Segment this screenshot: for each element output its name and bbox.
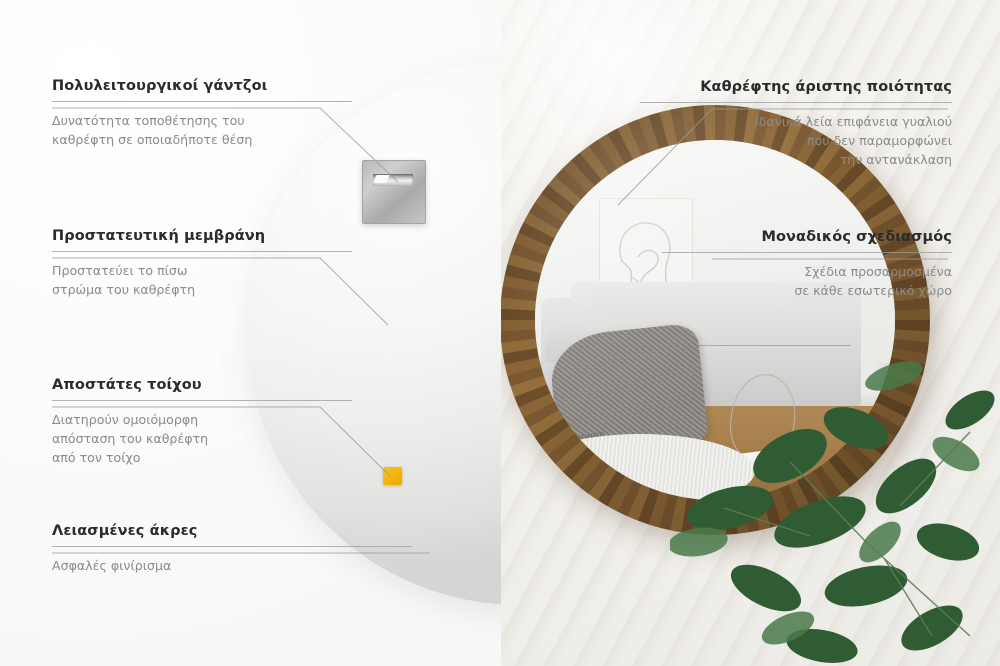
feature-title: Αποστάτες τοίχου	[52, 377, 352, 393]
feature-body-line: απόσταση του καθρέφτη	[52, 431, 208, 446]
hook-plate-marker	[362, 160, 426, 224]
infographic-stage: Πολυλειτουργικοί γάντζοι Δυνατότητα τοπο…	[0, 0, 1000, 666]
feature-title: Λειασμένες άκρες	[52, 523, 412, 539]
feature-smoothed-edges: Λειασμένες άκρες Ασφαλές φινίρισμα	[52, 523, 412, 575]
feature-protective-membrane: Προστατευτική μεμβράνη Προστατεύει το πί…	[52, 228, 352, 299]
feature-body-line: Ιδανικά λεία επιφάνεια γυαλιού	[755, 114, 952, 129]
feature-top-quality-mirror: Καθρέφτης άριστης ποιότητας Ιδανικά λεία…	[640, 79, 952, 169]
feature-body: Ιδανικά λεία επιφάνεια γυαλιού που δεν π…	[640, 112, 952, 169]
feature-body-line: από τον τοίχο	[52, 450, 140, 465]
feature-body: Δυνατότητα τοποθέτησης του καθρέφτη σε ο…	[52, 111, 352, 149]
feature-wall-spacers: Αποστάτες τοίχου Διατηρούν ομοιόμορφη απ…	[52, 377, 352, 467]
feature-rule	[52, 546, 412, 547]
feature-rule	[52, 251, 352, 252]
feature-multifunctional-hooks: Πολυλειτουργικοί γάντζοι Δυνατότητα τοπο…	[52, 78, 352, 149]
feature-title: Μοναδικός σχεδιασμός	[662, 229, 952, 245]
feature-body-line: στρώμα του καθρέφτη	[52, 282, 195, 297]
feature-body-line: την αντανάκλαση	[840, 152, 952, 167]
hook-slot-icon	[373, 174, 413, 186]
feature-body-line: Ασφαλές φινίρισμα	[52, 558, 171, 573]
feature-body-line: Διατηρούν ομοιόμορφη	[52, 412, 198, 427]
feature-title: Προστατευτική μεμβράνη	[52, 228, 352, 244]
feature-body: Προστατεύει το πίσω στρώμα του καθρέφτη	[52, 261, 352, 299]
feature-rule	[52, 400, 352, 401]
feature-body-line: που δεν παραμορφώνει	[807, 133, 952, 148]
feature-body: Ασφαλές φινίρισμα	[52, 556, 412, 575]
feature-title: Καθρέφτης άριστης ποιότητας	[640, 79, 952, 95]
wall-spacer-marker	[383, 467, 402, 485]
feature-unique-design: Μοναδικός σχεδιασμός Σχέδια προσαρμοσμέν…	[662, 229, 952, 300]
feature-rule	[52, 101, 352, 102]
feature-body-line: Σχέδια προσαρμοσμένα	[804, 264, 952, 279]
feature-body: Σχέδια προσαρμοσμένα σε κάθε εσωτερικό χ…	[662, 262, 952, 300]
feature-body: Διατηρούν ομοιόμορφη απόσταση του καθρέφ…	[52, 410, 352, 467]
feature-body-line: καθρέφτη σε οποιαδήποτε θέση	[52, 132, 252, 147]
feature-body-line: Δυνατότητα τοποθέτησης του	[52, 113, 245, 128]
feature-body-line: Προστατεύει το πίσω	[52, 263, 187, 278]
feature-body-line: σε κάθε εσωτερικό χώρο	[794, 283, 952, 298]
foliage-decoration	[670, 336, 1000, 666]
feature-rule	[662, 252, 952, 253]
feature-rule	[640, 102, 952, 103]
feature-title: Πολυλειτουργικοί γάντζοι	[52, 78, 352, 94]
